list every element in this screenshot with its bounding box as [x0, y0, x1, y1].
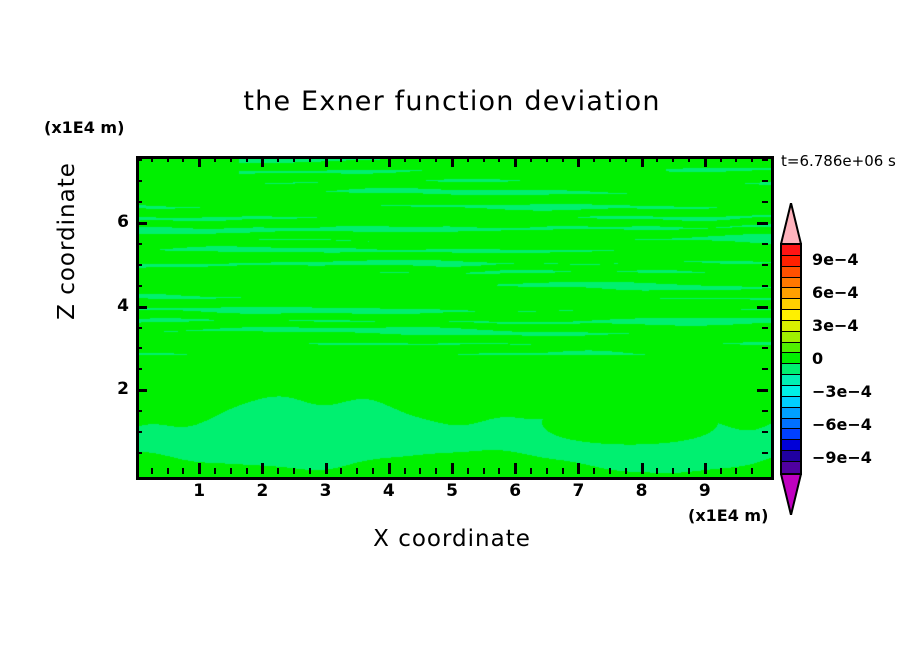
colorbar-band [782, 310, 800, 321]
x-tick-minor-top [277, 156, 279, 162]
x-tick-minor-top [483, 156, 485, 162]
colorbar-top-cap-triangle-icon [780, 203, 802, 245]
y-tick-major-right [757, 222, 768, 225]
y-tick-minor [136, 180, 142, 182]
x-tick-minor-top [419, 156, 421, 162]
x-tick-label: 6 [500, 481, 530, 501]
x-tick-minor [151, 468, 153, 474]
y-tick-minor-right [762, 180, 768, 182]
x-tick-minor [404, 468, 406, 474]
y-tick-major [136, 306, 147, 309]
x-tick-minor-top [246, 156, 248, 162]
x-tick-minor [356, 468, 358, 474]
y-tick-minor-right [762, 368, 768, 370]
colorbar-band [782, 397, 800, 408]
x-tick-minor [483, 468, 485, 474]
page-title: the Exner function deviation [0, 86, 904, 117]
x-tick-major [577, 463, 580, 474]
y-tick-minor-right [762, 347, 768, 349]
x-tick-major [261, 463, 264, 474]
x-tick-minor-top [609, 156, 611, 162]
y-tick-minor-right [762, 285, 768, 287]
x-tick-minor [625, 468, 627, 474]
x-tick-minor-top [467, 156, 469, 162]
x-tick-minor-top [562, 156, 564, 162]
x-tick-minor [751, 468, 753, 474]
colorbar-band [782, 332, 800, 343]
colorbar-band [782, 386, 800, 397]
x-tick-major-top [577, 156, 580, 167]
timestamp-annotation: t=6.786e+06 s [781, 152, 896, 170]
y-tick-minor [136, 347, 142, 349]
y-tick-minor-right [762, 201, 768, 203]
y-tick-minor [136, 201, 142, 203]
x-tick-minor-top [498, 156, 500, 162]
x-tick-minor [372, 468, 374, 474]
x-tick-minor-top [625, 156, 627, 162]
x-tick-major [704, 463, 707, 474]
x-tick-minor [277, 468, 279, 474]
y-tick-minor-right [762, 452, 768, 454]
x-tick-minor-top [735, 156, 737, 162]
x-tick-label: 8 [627, 481, 657, 501]
colorbar-tick-label: −9e−4 [812, 448, 872, 467]
x-tick-minor [230, 468, 232, 474]
colorbar-band [782, 299, 800, 310]
x-tick-minor-top [404, 156, 406, 162]
x-tick-label: 9 [690, 481, 720, 501]
x-tick-major-top [704, 156, 707, 167]
x-tick-minor-top [672, 156, 674, 162]
colorbar-band [782, 245, 800, 256]
x-axis-title: X coordinate [136, 526, 768, 552]
x-tick-minor [562, 468, 564, 474]
x-tick-minor-top [214, 156, 216, 162]
colorbar-band [782, 451, 800, 462]
x-tick-minor [293, 468, 295, 474]
colorbar-band [782, 288, 800, 299]
x-tick-label: 3 [311, 481, 341, 501]
x-tick-minor-top [230, 156, 232, 162]
contour-field-canvas [139, 159, 771, 477]
x-tick-minor [530, 468, 532, 474]
x-tick-minor-top [593, 156, 595, 162]
x-tick-minor [498, 468, 500, 474]
x-tick-minor [246, 468, 248, 474]
x-tick-minor-top [372, 156, 374, 162]
x-tick-minor [340, 468, 342, 474]
y-tick-minor-right [762, 410, 768, 412]
x-tick-major [325, 463, 328, 474]
x-tick-minor [309, 468, 311, 474]
y-tick-label: 6 [99, 212, 129, 232]
y-axis-title: Z coordinate [54, 151, 80, 331]
y-tick-minor [136, 264, 142, 266]
x-tick-minor [593, 468, 595, 474]
colorbar-band [782, 408, 800, 419]
x-tick-label: 5 [437, 481, 467, 501]
colorbar-band [782, 462, 800, 473]
colorbar-band [782, 321, 800, 332]
colorbar-band [782, 343, 800, 354]
colorbar [780, 203, 802, 515]
x-tick-minor [435, 468, 437, 474]
y-tick-major-right [757, 306, 768, 309]
x-tick-minor [546, 468, 548, 474]
x-tick-minor [672, 468, 674, 474]
y-tick-minor [136, 243, 142, 245]
y-axis-unit-label: (x1E4 m) [44, 118, 124, 137]
colorbar-band [782, 256, 800, 267]
colorbar-tick-label: 6e−4 [812, 283, 859, 302]
x-tick-minor-top [151, 156, 153, 162]
x-tick-minor-top [293, 156, 295, 162]
x-tick-major [641, 463, 644, 474]
y-tick-minor-right [762, 327, 768, 329]
y-tick-minor-right [762, 431, 768, 433]
x-tick-minor-top [309, 156, 311, 162]
y-tick-minor [136, 452, 142, 454]
colorbar-tick-label: −3e−4 [812, 382, 872, 401]
x-tick-minor-top [356, 156, 358, 162]
y-tick-major-right [757, 389, 768, 392]
x-tick-minor [214, 468, 216, 474]
x-tick-minor [419, 468, 421, 474]
y-tick-minor [136, 285, 142, 287]
y-tick-minor-right [762, 264, 768, 266]
x-tick-major-top [641, 156, 644, 167]
x-tick-minor [688, 468, 690, 474]
x-tick-minor-top [340, 156, 342, 162]
y-tick-minor [136, 410, 142, 412]
x-tick-major [388, 463, 391, 474]
x-tick-major-top [325, 156, 328, 167]
y-tick-minor [136, 327, 142, 329]
x-tick-minor-top [167, 156, 169, 162]
x-tick-minor-top [656, 156, 658, 162]
x-tick-minor-top [751, 156, 753, 162]
contour-plot-area [136, 156, 774, 480]
x-tick-minor [467, 468, 469, 474]
y-tick-minor [136, 431, 142, 433]
colorbar-color-bands [780, 243, 802, 475]
colorbar-tick-label: 9e−4 [812, 250, 859, 269]
y-tick-minor-right [762, 243, 768, 245]
x-tick-minor [167, 468, 169, 474]
x-axis-unit-label: (x1E4 m) [688, 506, 768, 525]
colorbar-band [782, 267, 800, 278]
x-tick-major-top [388, 156, 391, 167]
x-tick-minor-top [688, 156, 690, 162]
x-tick-label: 2 [247, 481, 277, 501]
colorbar-tick-label: −6e−4 [812, 415, 872, 434]
x-tick-major-top [198, 156, 201, 167]
y-tick-minor [136, 159, 142, 161]
y-tick-minor [136, 368, 142, 370]
x-tick-minor [182, 468, 184, 474]
y-tick-label: 2 [99, 379, 129, 399]
colorbar-band [782, 353, 800, 364]
x-tick-minor [609, 468, 611, 474]
colorbar-tick-label: 3e−4 [812, 316, 859, 335]
x-tick-minor [735, 468, 737, 474]
x-tick-minor-top [435, 156, 437, 162]
x-tick-major [451, 463, 454, 474]
colorbar-bottom-cap-triangle-icon [780, 473, 802, 515]
x-tick-major-top [514, 156, 517, 167]
x-tick-major-top [451, 156, 454, 167]
x-tick-label: 7 [563, 481, 593, 501]
y-tick-major [136, 222, 147, 225]
colorbar-band [782, 375, 800, 386]
x-tick-minor-top [530, 156, 532, 162]
y-tick-label: 4 [99, 296, 129, 316]
x-tick-minor [656, 468, 658, 474]
x-tick-minor [720, 468, 722, 474]
colorbar-band [782, 278, 800, 289]
x-tick-minor-top [182, 156, 184, 162]
colorbar-band [782, 419, 800, 430]
y-tick-minor-right [762, 159, 768, 161]
x-tick-major [198, 463, 201, 474]
x-tick-major-top [261, 156, 264, 167]
colorbar-tick-label: 0 [812, 349, 823, 368]
colorbar-band [782, 364, 800, 375]
x-tick-major [514, 463, 517, 474]
colorbar-band [782, 440, 800, 451]
colorbar-band [782, 429, 800, 440]
x-tick-label: 1 [184, 481, 214, 501]
x-tick-label: 4 [374, 481, 404, 501]
x-tick-minor-top [546, 156, 548, 162]
x-tick-minor-top [720, 156, 722, 162]
y-tick-major [136, 389, 147, 392]
